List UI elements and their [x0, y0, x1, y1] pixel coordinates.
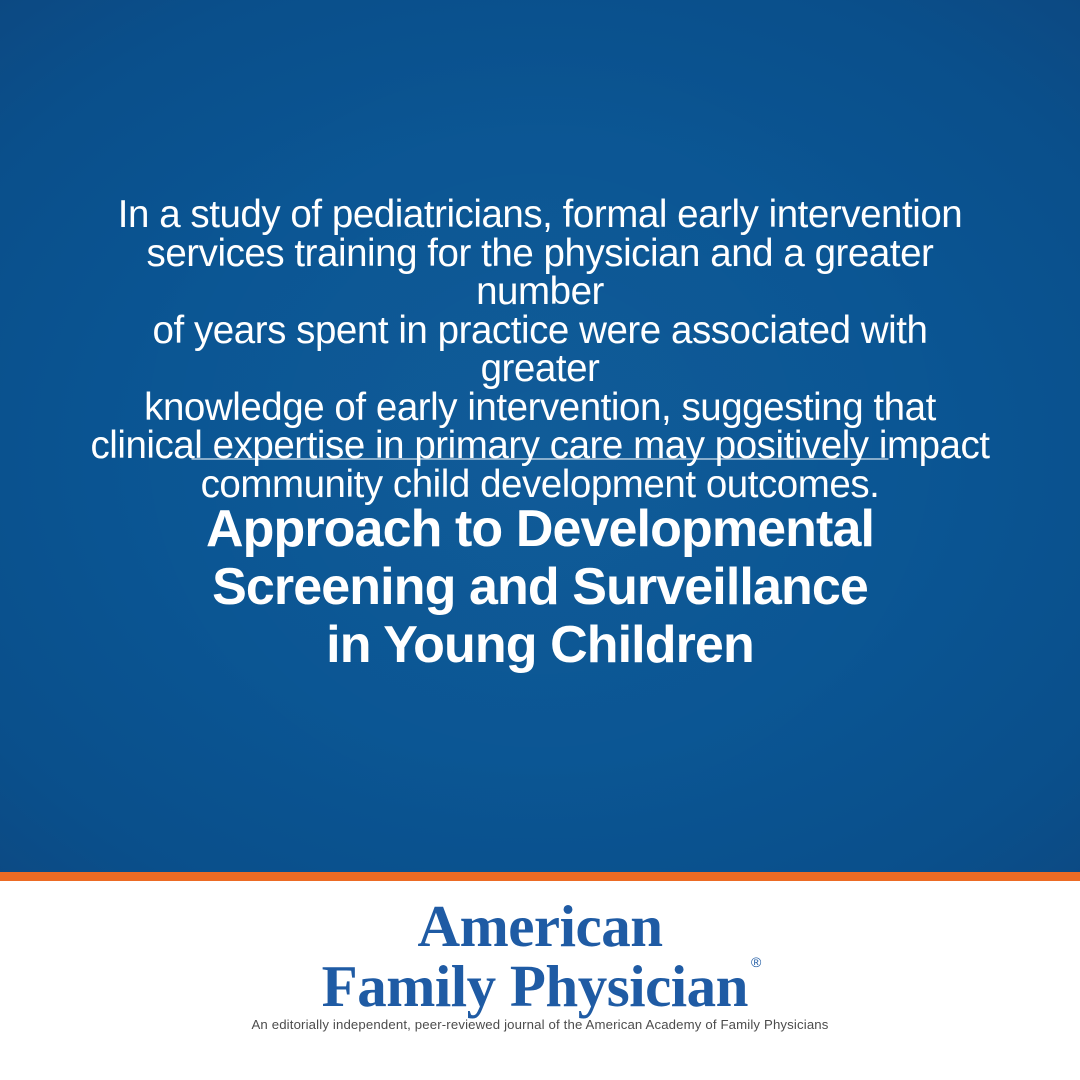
article-title: Approach to Developmental Screening and …	[110, 500, 970, 674]
social-card: In a study of pediatricians, formal earl…	[0, 0, 1080, 1080]
orange-accent-bar	[0, 872, 1080, 881]
registered-trademark-icon: ®	[751, 954, 761, 970]
logo-line-family-physician: Family Physician®	[322, 958, 759, 1016]
hero-panel: In a study of pediatricians, formal earl…	[0, 0, 1080, 872]
footer-tagline: An editorially independent, peer-reviewe…	[90, 1017, 990, 1033]
divider-rule	[192, 458, 889, 460]
logo-line-american: American	[230, 898, 850, 956]
afp-logo[interactable]: American Family Physician®	[230, 898, 850, 1016]
logo-wordmark-text: Family Physician	[322, 953, 748, 1019]
hero-content: In a study of pediatricians, formal earl…	[0, 0, 1080, 872]
footer-bar: American Family Physician® An editoriall…	[0, 881, 1080, 1080]
